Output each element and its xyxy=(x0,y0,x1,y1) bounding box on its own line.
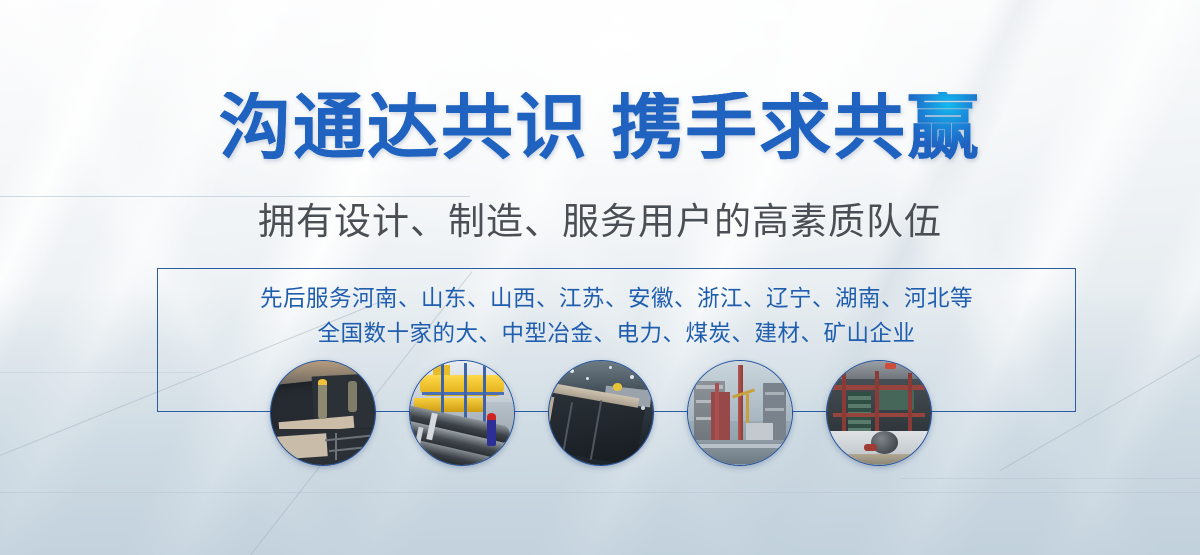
photo-plant-construction[interactable] xyxy=(687,360,793,466)
photo-panel-installation[interactable] xyxy=(270,360,376,466)
photo-workshop-interior[interactable] xyxy=(826,360,932,466)
facet-line-left-upper xyxy=(0,196,470,197)
facet-line-lower xyxy=(0,492,1200,493)
photo-plant-construction-image xyxy=(688,361,792,465)
photo-circle-strip xyxy=(270,359,932,466)
photo-yellow-equipment-pipes[interactable] xyxy=(409,360,515,466)
photo-workshop-interior-image xyxy=(827,361,931,465)
promo-banner: 沟通达共识 携手求共赢 拥有设计、制造、服务用户的高素质队伍 先后服务河南、山东… xyxy=(0,0,1200,555)
page-subtitle: 拥有设计、制造、服务用户的高素质队伍 xyxy=(0,203,1200,240)
photo-duct-hoisting-snow-image xyxy=(549,361,653,465)
facet-line-right-lower xyxy=(900,478,1200,479)
photo-panel-installation-image xyxy=(271,361,375,465)
panel-description-line-2: 全国数十家的大、中型冶金、电力、煤炭、建材、矿山企业 xyxy=(157,316,1076,351)
panel-description-line-1: 先后服务河南、山东、山西、江苏、安徽、浙江、辽宁、湖南、河北等 xyxy=(260,286,973,311)
panel-description: 先后服务河南、山东、山西、江苏、安徽、浙江、辽宁、湖南、河北等 全国数十家的大、… xyxy=(157,281,1076,351)
photo-duct-hoisting-snow[interactable] xyxy=(548,360,654,466)
photo-yellow-equipment-pipes-image xyxy=(410,361,514,465)
page-title: 沟通达共识 携手求共赢 xyxy=(0,92,1200,164)
